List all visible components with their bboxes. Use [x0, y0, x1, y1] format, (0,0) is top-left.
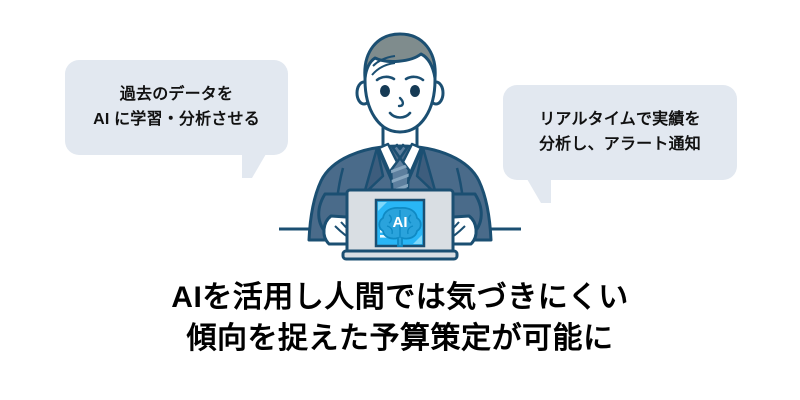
slide-canvas: 過去のデータを AI に学習・分析させる リアルタイムで実績を 分析し、アラート… [0, 0, 800, 400]
laptop-screen-ai-label: AI [393, 214, 408, 231]
right-bubble-line-2: 分析し、アラート通知 [539, 133, 701, 158]
right-eye [410, 85, 420, 97]
caption-block: AIを活用し人間では気づきにくい 傾向を捉えた予算策定が可能に [0, 278, 800, 359]
left-speech-bubble: 過去のデータを AI に学習・分析させる [65, 60, 288, 155]
left-eye [380, 85, 390, 97]
left-bubble-line-1: 過去のデータを [120, 83, 233, 108]
left-bubble-tail [242, 154, 266, 178]
laptop-base [343, 251, 457, 259]
right-bubble-line-1: リアルタイムで実績を [539, 108, 701, 133]
left-bubble-line-2: AI に学習・分析させる [93, 108, 260, 133]
businessman-with-laptop-illustration: AI [265, 18, 535, 268]
right-speech-bubble: リアルタイムで実績を 分析し、アラート通知 [503, 85, 737, 180]
caption-line-1: AIを活用し人間では気づきにくい [0, 278, 800, 319]
businessman-svg: AI [265, 18, 535, 268]
caption-line-2: 傾向を捉えた予算策定が可能に [0, 319, 800, 360]
